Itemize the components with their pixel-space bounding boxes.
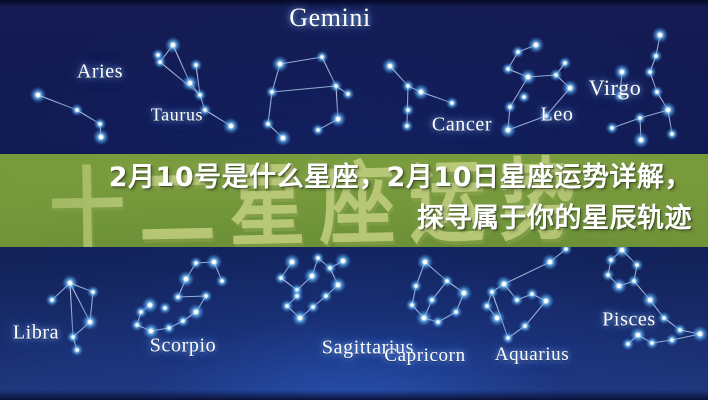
star-core	[140, 311, 143, 314]
star-core	[607, 274, 610, 277]
star-core	[329, 267, 332, 270]
star-core	[548, 260, 552, 264]
star-core	[671, 339, 674, 342]
star-core	[455, 311, 458, 314]
star-core	[310, 274, 314, 278]
star-core	[281, 136, 285, 140]
star-core	[524, 325, 527, 328]
star-core	[157, 54, 160, 57]
star-core	[451, 102, 454, 105]
star-core	[212, 260, 216, 264]
star-core	[419, 90, 423, 94]
star-core	[296, 295, 299, 298]
star-core	[76, 349, 79, 352]
star-core	[149, 329, 153, 333]
star-core	[636, 264, 639, 267]
star-core	[177, 296, 180, 299]
star-core	[76, 109, 79, 112]
star-core	[182, 320, 185, 323]
star-core	[610, 259, 613, 262]
star-core	[509, 106, 512, 109]
star-core	[658, 33, 662, 37]
star-core	[195, 64, 198, 67]
star-core	[406, 125, 409, 128]
star-core	[325, 295, 328, 298]
star-core	[523, 96, 526, 99]
star-core	[171, 43, 175, 47]
star-core	[611, 127, 614, 130]
constellation-line	[272, 86, 336, 92]
star-core	[655, 55, 658, 58]
star-core	[431, 299, 434, 302]
star-core	[620, 248, 624, 252]
star-core	[317, 257, 320, 260]
star-core	[335, 85, 338, 88]
star-core	[506, 128, 510, 132]
star-core	[555, 74, 558, 77]
star-core	[407, 109, 410, 112]
star-core	[317, 129, 320, 132]
star-core	[495, 316, 499, 320]
star-core	[148, 303, 152, 307]
star-core	[545, 115, 548, 118]
star-core	[72, 336, 75, 339]
star-core	[656, 91, 659, 94]
star-core	[312, 306, 315, 309]
star-core	[663, 317, 666, 320]
star-core	[486, 305, 489, 308]
star-core	[633, 280, 636, 283]
star-core	[666, 108, 670, 112]
star-core	[267, 123, 270, 126]
page-title-line-1: 2月10号是什么星座，2月10日星座运势详解，	[16, 157, 692, 198]
star-core	[507, 68, 510, 71]
star-core	[502, 282, 506, 286]
star-core	[534, 43, 538, 47]
star-core	[168, 327, 171, 330]
star-core	[544, 299, 548, 303]
star-core	[336, 283, 340, 287]
star-core	[68, 281, 72, 285]
star-core	[526, 75, 530, 79]
star-core	[491, 291, 494, 294]
star-core	[531, 293, 534, 296]
star-core	[564, 62, 567, 65]
star-core	[565, 248, 568, 251]
star-core	[336, 117, 340, 121]
star-core	[36, 93, 40, 97]
page-title: 2月10号是什么星座，2月10日星座运势详解， 探寻属于你的星辰轨迹	[0, 157, 708, 239]
star-core	[286, 305, 289, 308]
star-core	[92, 291, 95, 294]
star-core	[205, 295, 208, 298]
star-core	[415, 285, 418, 288]
star-core	[446, 280, 449, 283]
star-core	[229, 124, 233, 128]
star-core	[671, 133, 674, 136]
zodiac-banner: AriesTaurusGeminiCancerLeoVirgoLibraScor…	[0, 0, 708, 400]
star-core	[341, 259, 345, 263]
star-core	[568, 86, 572, 90]
star-core	[679, 329, 682, 332]
star-core	[407, 85, 410, 88]
star-core	[422, 316, 426, 320]
star-core	[99, 123, 102, 126]
star-core	[271, 91, 274, 94]
star-core	[347, 93, 350, 96]
star-core	[51, 299, 54, 302]
star-core	[649, 71, 652, 74]
star-core	[278, 62, 282, 66]
star-core	[221, 280, 224, 283]
star-core	[99, 135, 103, 139]
star-core	[627, 343, 630, 346]
star-core	[516, 299, 519, 302]
star-core	[88, 320, 92, 324]
star-core	[195, 262, 198, 265]
star-core	[648, 298, 652, 302]
star-core	[639, 138, 643, 142]
star-core	[617, 284, 621, 288]
star-core	[194, 310, 198, 314]
star-core	[620, 70, 624, 74]
star-core	[136, 324, 139, 327]
star-core	[188, 81, 192, 85]
star-core	[651, 342, 654, 345]
star-core	[204, 109, 207, 112]
star-core	[321, 56, 324, 59]
star-core	[290, 260, 294, 264]
star-core	[423, 260, 427, 264]
star-core	[280, 277, 283, 280]
star-core	[639, 117, 642, 120]
star-core	[619, 95, 622, 98]
star-core	[199, 94, 202, 97]
star-core	[298, 316, 302, 320]
star-core	[698, 332, 702, 336]
star-core	[411, 304, 414, 307]
star-core	[636, 333, 640, 337]
star-core	[507, 337, 510, 340]
star-core	[462, 291, 466, 295]
star-core	[164, 307, 167, 310]
star-core	[517, 51, 520, 54]
star-core	[437, 321, 440, 324]
star-core	[184, 277, 188, 281]
page-title-line-2: 探寻属于你的星辰轨迹	[16, 198, 692, 239]
star-core	[388, 64, 392, 68]
